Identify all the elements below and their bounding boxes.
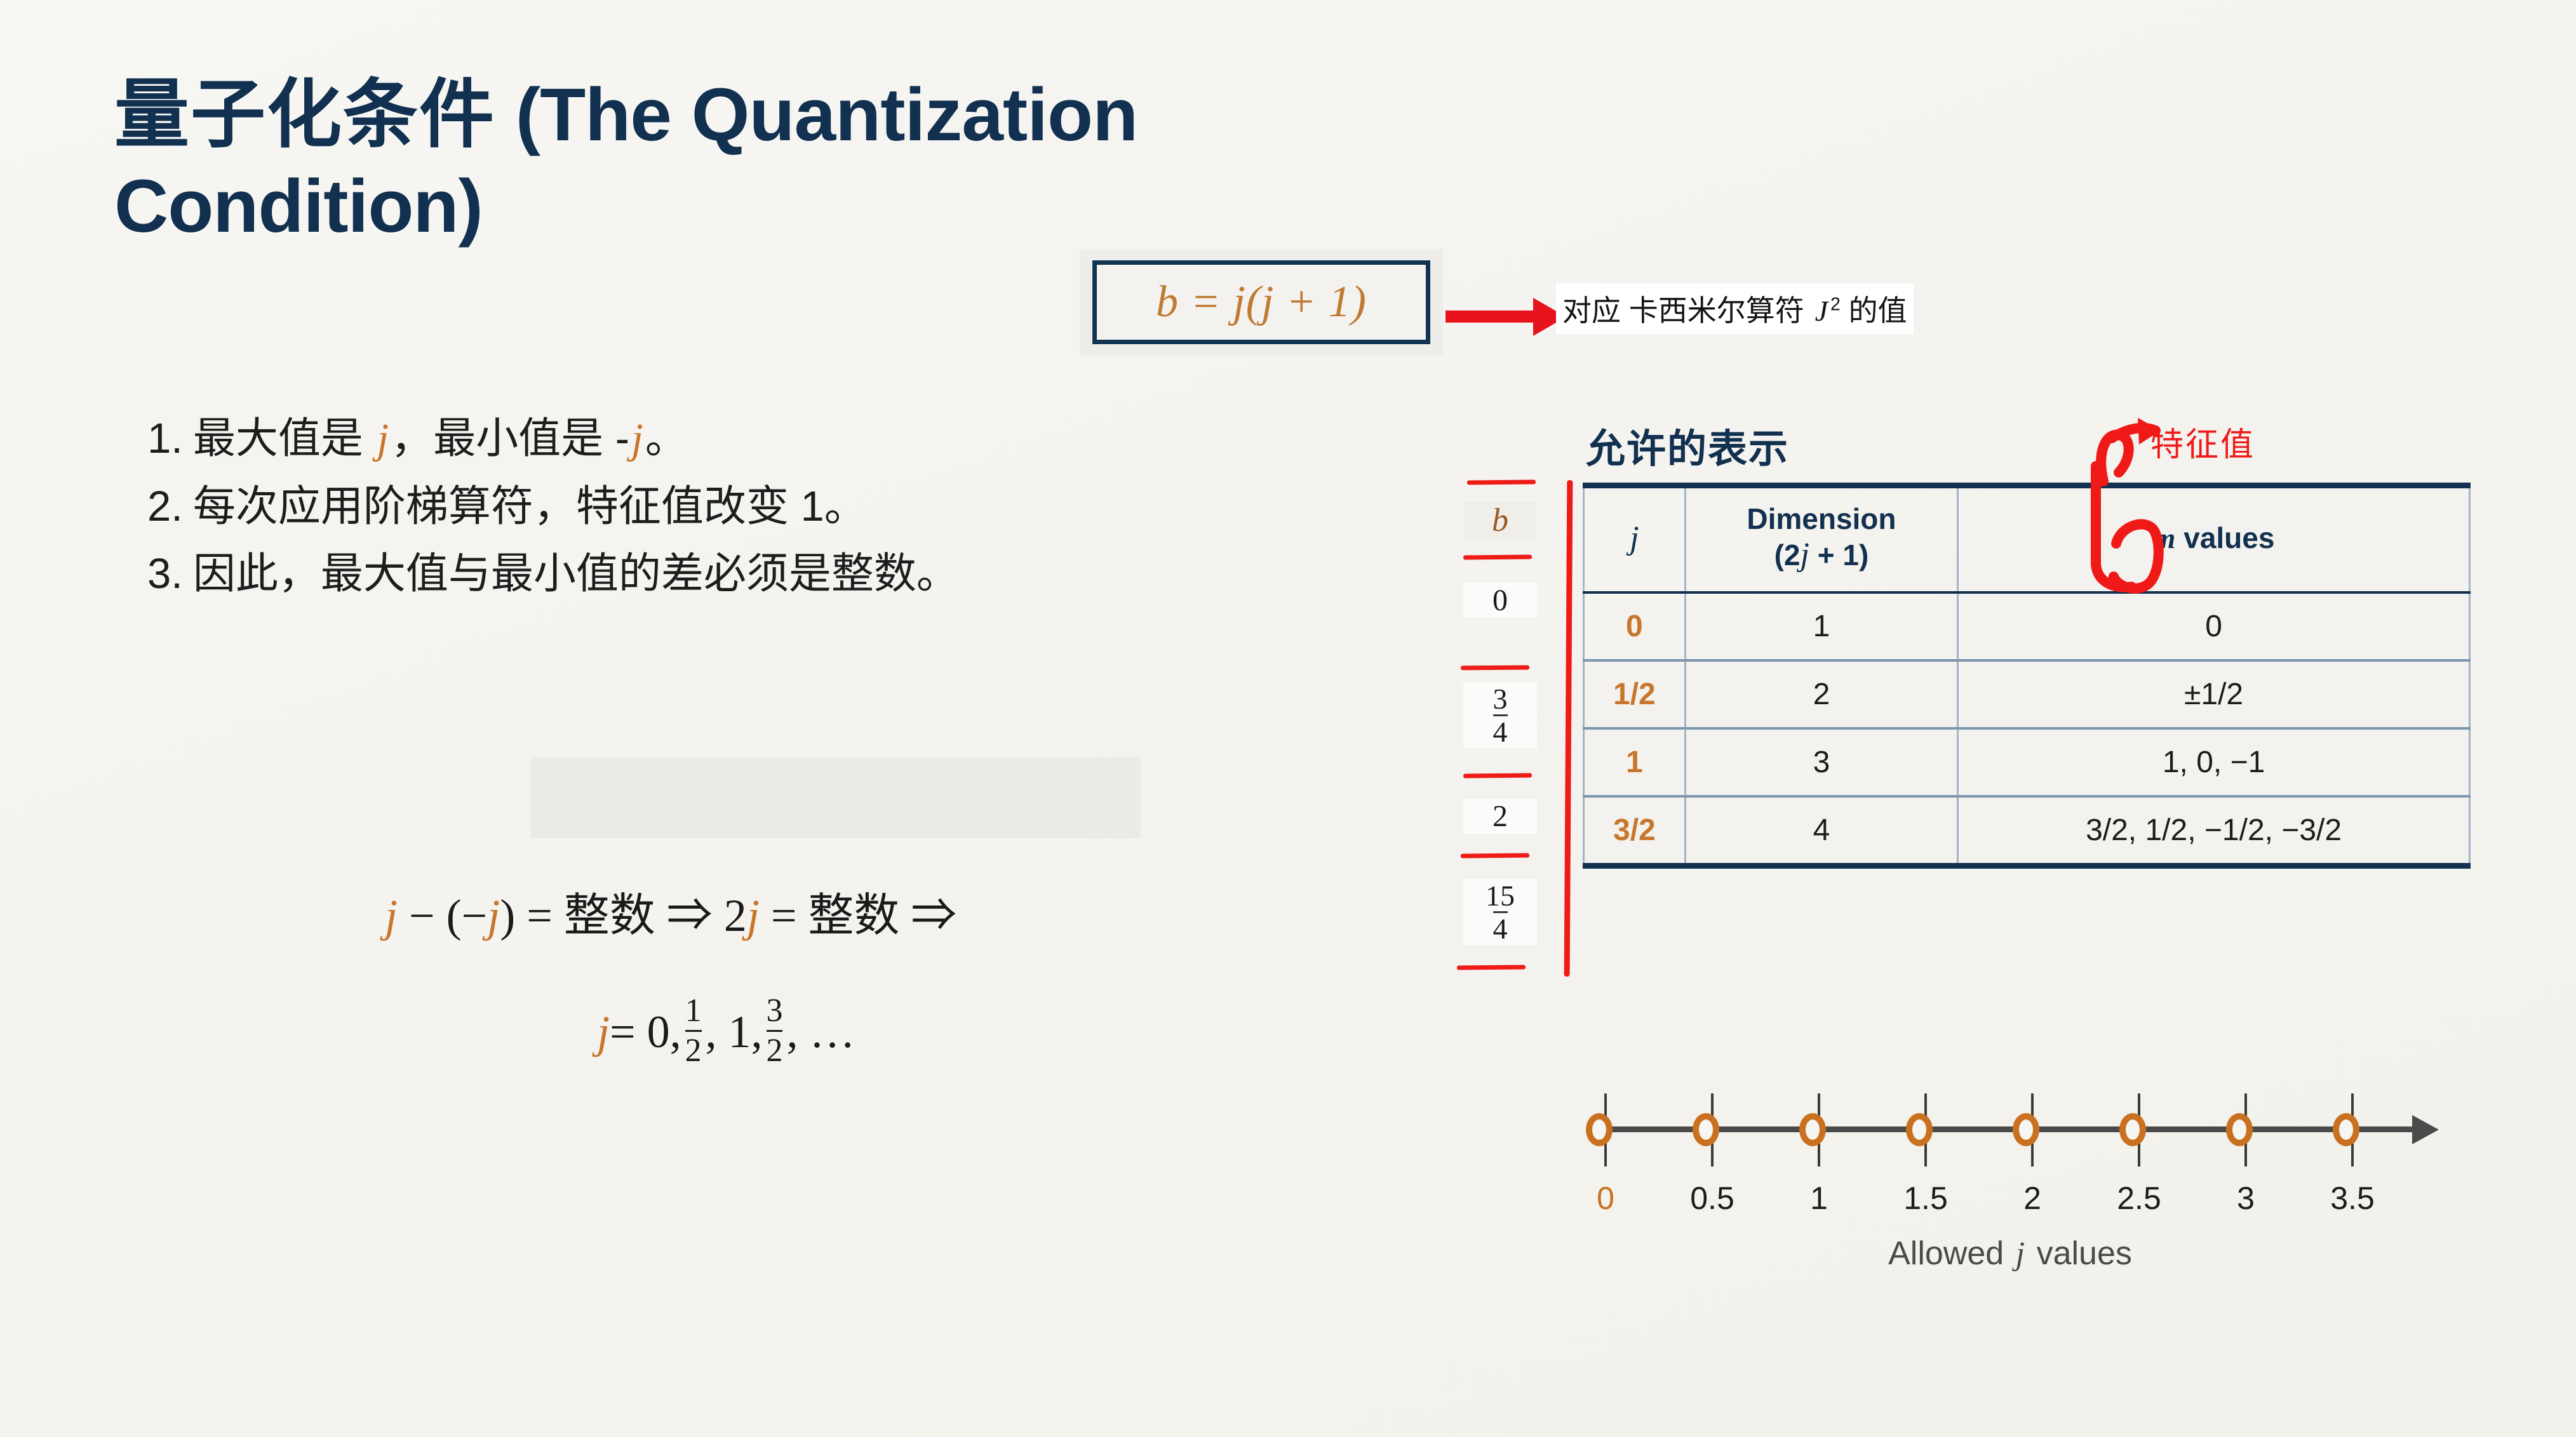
title-line2: Condition) <box>114 164 483 248</box>
blank-placeholder-box <box>531 757 1141 838</box>
page-title: 量子化条件 (The Quantization Condition) <box>114 70 1670 253</box>
number-line-label: 3.5 <box>2330 1180 2375 1217</box>
cell-m-values: 3/2, 1/2, −1/2, −3/2 <box>1958 796 2470 866</box>
number-line-label: 2.5 <box>2117 1180 2161 1217</box>
cell-j: 3/2 <box>1584 796 1686 866</box>
casimir-annotation-tail: 的值 <box>1841 294 1907 327</box>
column-header-dimension-pre: (2 <box>1774 538 1801 571</box>
column-header-dimension: Dimension (2j + 1) <box>1685 486 1957 592</box>
b-fraction: 15 4 <box>1486 881 1515 945</box>
eq2-eq: = 0, <box>610 1006 681 1059</box>
b-column-value: 15 4 <box>1463 879 1537 945</box>
allowed-j-number-line: 00.511.522.533.5 Allowed j values <box>1575 1079 2477 1289</box>
b-column-rule <box>1463 555 1532 560</box>
arrow-shaft <box>1446 311 1541 323</box>
b-fraction-denominator: 4 <box>1493 714 1508 747</box>
number-line-marker <box>1586 1113 1613 1146</box>
column-header-j-symbol: j <box>1630 520 1639 556</box>
reasoning-list: 1.最大值是 j，最小值是 -j。 2.每次应用阶梯算符，特征值改变 1。 3.… <box>147 405 1405 608</box>
cell-j: 1 <box>1584 728 1686 796</box>
cell-j: 1/2 <box>1584 660 1686 728</box>
list-item: 2.每次应用阶梯算符，特征值改变 1。 <box>147 473 1405 540</box>
number-line-label: 2 <box>2023 1180 2041 1217</box>
allowed-representations-table: j Dimension (2j + 1) m values 0 1 0 1/2 … <box>1583 483 2471 869</box>
title-chinese: 量子化条件 <box>114 73 495 157</box>
derivation-equation-1: j − (−j) = 整数 ⇒ 2j = 整数 ⇒ <box>385 878 956 944</box>
slide-canvas: 量子化条件 (The Quantization Condition) b = j… <box>0 0 2576 1437</box>
b-value-column-annotation: b 0 3 4 2 15 4 <box>1461 478 1575 979</box>
b-column-rule <box>1463 773 1532 779</box>
eq1-op3: = 整数 ⇒ <box>760 890 957 941</box>
fraction-three-halves: 32 <box>767 994 783 1067</box>
number-line-label: 0.5 <box>1690 1180 1734 1217</box>
table-row: 1/2 2 ±1/2 <box>1584 660 2470 728</box>
quantization-formula-box: b = j(j + 1) <box>1092 260 1430 344</box>
number-line-label: 1.5 <box>1903 1180 1948 1217</box>
title-english: (The Quantization <box>495 73 1137 157</box>
cell-m-values: ±1/2 <box>1958 660 2470 728</box>
casimir-symbol: J <box>1813 295 1830 327</box>
b-column-vertical-rule <box>1564 480 1573 977</box>
list-item-text-post: 。 <box>645 415 688 462</box>
table-row: 0 1 0 <box>1584 592 2470 660</box>
number-line-marker <box>1906 1113 1933 1146</box>
eq1-j2: j <box>487 890 500 941</box>
column-header-dimension-line1: Dimension <box>1747 502 1896 535</box>
list-item-number: 1. <box>147 415 183 462</box>
caption-post: values <box>2027 1235 2132 1272</box>
b-fraction-numerator: 3 <box>1493 684 1508 714</box>
column-header-dimension-post: + 1) <box>1809 538 1868 571</box>
cell-dimension: 2 <box>1685 660 1957 728</box>
red-arrow-icon <box>1446 302 1566 331</box>
number-line-marker <box>1799 1113 1826 1146</box>
number-line-label: 1 <box>1810 1180 1828 1217</box>
b-fraction-denominator: 4 <box>1493 911 1508 944</box>
casimir-exponent: 2 <box>1830 295 1841 315</box>
derivation-equation-2: j = 0, 12, 1, 32, … <box>597 996 855 1069</box>
eq2-tail: , … <box>786 1006 855 1059</box>
number-line-marker <box>2226 1113 2253 1146</box>
b-column-rule <box>1457 965 1526 970</box>
eigenvalue-annotation-label: 特征值 <box>2150 418 2255 465</box>
caption-pre: Allowed <box>1888 1235 2013 1272</box>
cell-dimension: 1 <box>1685 592 1957 660</box>
table-row: 1 3 1, 0, −1 <box>1584 728 2470 796</box>
b-column-rule <box>1461 665 1529 671</box>
list-item-text: 因此，最大值与最小值的差必须是整数。 <box>193 550 959 598</box>
b-column-value: 2 <box>1463 799 1537 834</box>
number-line-marker <box>1693 1113 1719 1146</box>
fraction-numerator: 1 <box>685 994 702 1030</box>
eq1-op2: ) = 整数 ⇒ 2 <box>500 890 747 941</box>
b-column-rule <box>1467 479 1536 485</box>
b-fraction: 3 4 <box>1493 684 1508 748</box>
b-column-rule <box>1461 853 1529 859</box>
list-item-number: 2. <box>147 483 183 530</box>
list-item-number: 3. <box>147 550 183 598</box>
eq1-j1: j <box>385 890 398 941</box>
column-header-dimension-j: j <box>1801 537 1809 573</box>
list-item-text-pre: 最大值是 <box>193 415 375 462</box>
b-column-header: b <box>1463 502 1537 539</box>
cell-dimension: 3 <box>1685 728 1957 796</box>
b-fraction-numerator: 15 <box>1486 881 1515 911</box>
b-column-value: 0 <box>1463 583 1537 618</box>
table-row: 3/2 4 3/2, 1/2, −1/2, −3/2 <box>1584 796 2470 866</box>
eq2-sep: , 1, <box>706 1006 763 1059</box>
casimir-annotation: 对应 卡西米尔算符 J2 的值 <box>1556 283 1914 334</box>
eq1-op1: − (− <box>398 890 487 941</box>
eq2-j: j <box>597 1006 610 1059</box>
fraction-numerator: 3 <box>767 994 783 1030</box>
section-heading-allowed-representations: 允许的表示 <box>1586 417 1789 474</box>
number-line-marker <box>2333 1113 2359 1146</box>
number-line-marker <box>2119 1113 2146 1146</box>
eq1-j3: j <box>747 890 760 941</box>
list-item: 1.最大值是 j，最小值是 -j。 <box>147 405 1405 473</box>
list-item-text-mid: ，最小值是 - <box>391 415 629 462</box>
number-line-label: 3 <box>2237 1180 2255 1217</box>
list-item: 3.因此，最大值与最小值的差必须是整数。 <box>147 540 1405 608</box>
table-header-row: j Dimension (2j + 1) m values <box>1584 486 2470 592</box>
fraction-denominator: 2 <box>767 1030 783 1067</box>
cell-dimension: 4 <box>1685 796 1957 866</box>
list-item-var-j-max: j <box>375 415 391 462</box>
list-item-var-j-min: j <box>629 415 645 462</box>
caption-j-symbol: j <box>2013 1236 2027 1272</box>
column-header-j: j <box>1584 486 1686 592</box>
fraction-one-half: 12 <box>685 994 702 1067</box>
b-column-value: 3 4 <box>1463 682 1537 748</box>
list-item-text: 每次应用阶梯算符，特征值改变 1。 <box>193 483 867 530</box>
fraction-denominator: 2 <box>685 1030 702 1067</box>
number-line-marker <box>2013 1113 2039 1146</box>
casimir-annotation-text: 对应 卡西米尔算符 <box>1562 294 1813 327</box>
number-line-label: 0 <box>1597 1180 1614 1217</box>
cell-j: 0 <box>1584 592 1686 660</box>
cell-m-values: 1, 0, −1 <box>1958 728 2470 796</box>
number-line-caption: Allowed j values <box>1575 1234 2445 1273</box>
formula-highlight-backdrop: b = j(j + 1) <box>1080 249 1443 356</box>
